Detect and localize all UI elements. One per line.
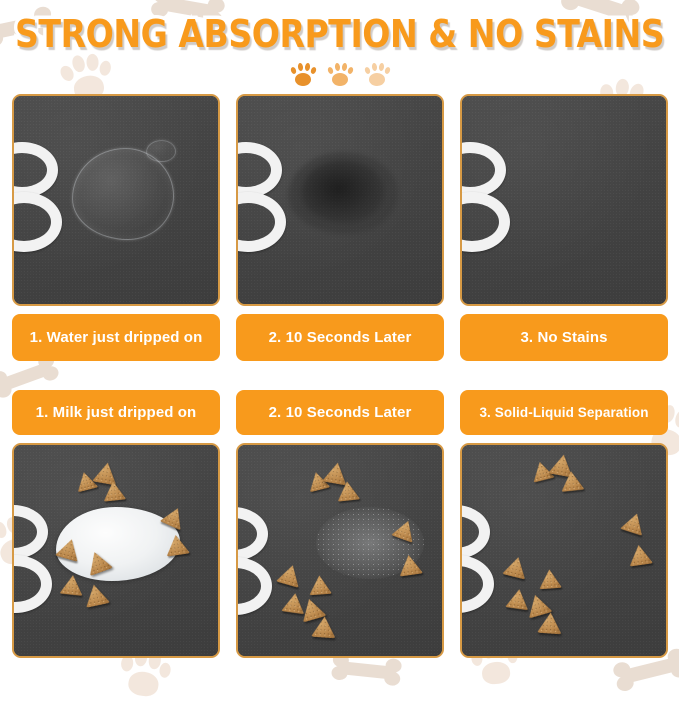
photo-water-fresh-spill bbox=[12, 94, 220, 306]
caption-water-3: 3. No Stains bbox=[460, 314, 668, 361]
photo-milk-fresh-spill bbox=[12, 443, 220, 658]
photo-water-absorbing bbox=[236, 94, 444, 306]
mat-logo-b bbox=[460, 505, 510, 620]
paw-divider bbox=[0, 60, 679, 90]
caption-water-1: 1. Water just dripped on bbox=[12, 314, 220, 361]
panel-milk-1: 1. Milk just dripped on bbox=[12, 390, 220, 658]
paw-print-icon bbox=[290, 63, 316, 87]
title-banner: STRONG ABSORPTION & NO STAINS bbox=[0, 6, 679, 62]
photo-water-clean bbox=[460, 94, 668, 306]
panel-water-1: 1. Water just dripped on bbox=[12, 94, 220, 361]
mat-logo-b bbox=[460, 142, 524, 257]
water-puddle-tail bbox=[146, 140, 176, 162]
panel-milk-2: 2. 10 Seconds Later bbox=[236, 390, 444, 658]
caption-milk-2: 2. 10 Seconds Later bbox=[236, 390, 444, 435]
mat-logo-b bbox=[12, 142, 76, 257]
photo-milk-separated bbox=[460, 443, 668, 658]
mat-logo-b bbox=[12, 505, 68, 620]
photo-milk-absorbing bbox=[236, 443, 444, 658]
comparison-grid: 1. Water just dripped on 2. 10 Seconds L… bbox=[0, 0, 679, 679]
panel-water-2: 2. 10 Seconds Later bbox=[236, 94, 444, 361]
caption-milk-3: 3. Solid-Liquid Separation bbox=[460, 390, 668, 435]
paw-print-icon bbox=[327, 63, 353, 87]
paw-print-icon bbox=[364, 63, 390, 87]
caption-milk-1: 1. Milk just dripped on bbox=[12, 390, 220, 435]
panel-milk-3: 3. Solid-Liquid Separation bbox=[460, 390, 668, 658]
panel-water-3: 3. No Stains bbox=[460, 94, 668, 361]
mat-logo-b bbox=[236, 507, 288, 622]
damp-patch-edge bbox=[302, 160, 384, 222]
page-title: STRONG ABSORPTION & NO STAINS bbox=[15, 12, 664, 56]
caption-water-2: 2. 10 Seconds Later bbox=[236, 314, 444, 361]
